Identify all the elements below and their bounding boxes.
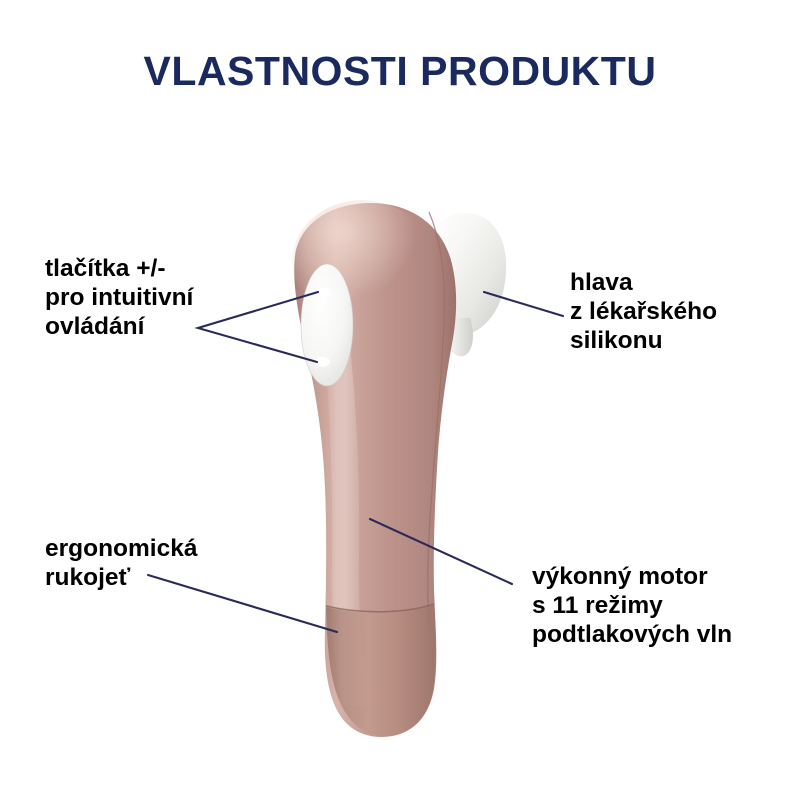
button-panel[interactable] (301, 264, 353, 386)
callout-buttons: tlačítka +/- pro intuitivní ovládání (45, 254, 193, 341)
product-illustration (0, 0, 800, 800)
product-feature-diagram: VLASTNOSTI PRODUKTU (0, 0, 800, 800)
device-group (292, 200, 506, 737)
callout-head-line-2: z lékařského (570, 297, 717, 326)
callout-buttons-line-2: pro intuitivní (45, 283, 193, 312)
callout-handle-line-1: ergonomická (45, 534, 198, 563)
callout-head-line-3: silikonu (570, 326, 717, 355)
callout-motor-line-2: s 11 režimy (532, 591, 732, 620)
callout-head: hlava z lékařského silikonu (570, 268, 717, 355)
callout-head-line-1: hlava (570, 268, 717, 297)
callout-handle-line-2: rukojeť (45, 563, 198, 592)
callout-motor-line-1: výkonný motor (532, 562, 732, 591)
callout-buttons-line-3: ovládání (45, 312, 193, 341)
callout-motor: výkonný motor s 11 režimy podtlakových v… (532, 562, 732, 649)
callout-handle: ergonomická rukojeť (45, 534, 198, 592)
callout-motor-line-3: podtlakových vln (532, 620, 732, 649)
callout-buttons-line-1: tlačítka +/- (45, 254, 193, 283)
